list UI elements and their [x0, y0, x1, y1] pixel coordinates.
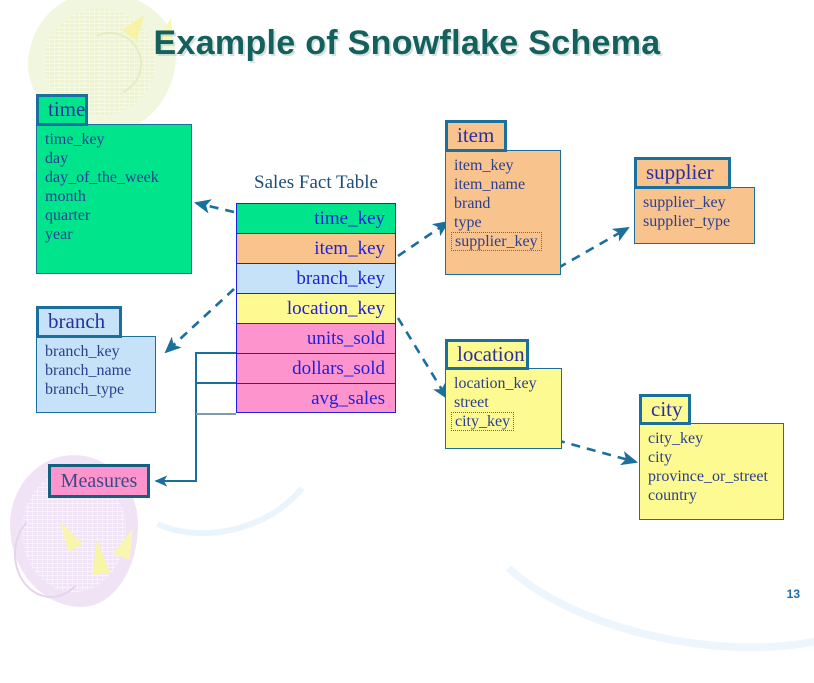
field-supplier_key: supplier_key	[643, 193, 746, 212]
field-city: city	[648, 448, 775, 467]
dimension-table-city-header: city	[639, 394, 691, 425]
field-branch_key: branch_key	[45, 342, 147, 361]
decorative-ray-4	[88, 539, 111, 575]
field-city_key-foreign: city_key	[451, 412, 514, 431]
decorative-ray-3	[54, 518, 83, 552]
field-supplier_key-foreign: supplier_key	[451, 232, 542, 251]
field-time_key: time_key	[45, 130, 183, 149]
field-year: year	[45, 225, 183, 244]
field-item_key: item_key	[454, 156, 552, 175]
field-brand: brand	[454, 194, 552, 213]
fact-row-units_sold: units_sold	[236, 323, 396, 353]
field-month: month	[45, 187, 183, 206]
dimension-table-item-fields: item_key item_name brand type supplier_k…	[445, 150, 561, 275]
dimension-table-supplier-header: supplier	[634, 157, 731, 189]
field-day_of_the_week: day_of_the_week	[45, 168, 183, 187]
decorative-ray-5	[113, 526, 141, 561]
measures-box[interactable]: Measures	[48, 464, 150, 498]
field-country: country	[648, 486, 775, 505]
slide-canvas: Example of Snowflake Schema time time_ke…	[0, 0, 814, 611]
page-number: 13	[787, 587, 800, 601]
field-type: type	[454, 213, 552, 232]
dimension-table-branch-fields: branch_key branch_name branch_type	[36, 336, 156, 413]
page-title: Example of Snowflake Schema	[0, 24, 814, 63]
field-city_key: city_key	[648, 429, 775, 448]
field-branch_type: branch_type	[45, 380, 147, 399]
dimension-table-time-fields: time_key day day_of_the_week month quart…	[36, 124, 192, 274]
fact-table-label: Sales Fact Table	[186, 172, 446, 194]
decorative-globe-bottom-left-arc	[14, 510, 88, 598]
field-location_key: location_key	[454, 374, 553, 393]
fact-row-avg_sales: avg_sales	[236, 383, 396, 413]
fact-row-item_key: item_key	[236, 233, 396, 263]
field-supplier_type: supplier_type	[643, 212, 746, 231]
field-street: street	[454, 393, 553, 412]
dimension-table-time[interactable]: time time_key day day_of_the_week month …	[36, 94, 192, 274]
dimension-table-item-header: item	[445, 120, 507, 152]
dimension-table-city[interactable]: city city_key city province_or_street co…	[639, 394, 784, 520]
dimension-table-time-header: time	[36, 94, 88, 126]
dimension-table-location-fields: location_key street city_key	[445, 368, 562, 449]
dimension-table-location-header: location	[445, 339, 529, 370]
field-day: day	[45, 149, 183, 168]
field-item_name: item_name	[454, 175, 552, 194]
dimension-table-branch[interactable]: branch branch_key branch_name branch_typ…	[36, 306, 156, 421]
fact-row-location_key: location_key	[236, 293, 396, 323]
dimension-table-supplier-fields: supplier_key supplier_type	[634, 187, 755, 244]
fact-row-branch_key: branch_key	[236, 263, 396, 293]
fact-row-time_key: time_key	[236, 203, 396, 233]
fact-row-dollars_sold: dollars_sold	[236, 353, 396, 383]
field-province_or_street: province_or_street	[648, 467, 775, 486]
field-branch_name: branch_name	[45, 361, 147, 380]
dimension-table-item[interactable]: item item_key item_name brand type suppl…	[445, 120, 561, 275]
field-quarter: quarter	[45, 206, 183, 225]
sales-fact-table[interactable]: time_key item_key branch_key location_ke…	[236, 203, 396, 413]
dimension-table-branch-header: branch	[36, 306, 122, 338]
dimension-table-city-fields: city_key city province_or_street country	[639, 423, 784, 520]
dimension-table-supplier[interactable]: supplier supplier_key supplier_type	[634, 157, 755, 250]
dimension-table-location[interactable]: location location_key street city_key	[445, 339, 562, 449]
